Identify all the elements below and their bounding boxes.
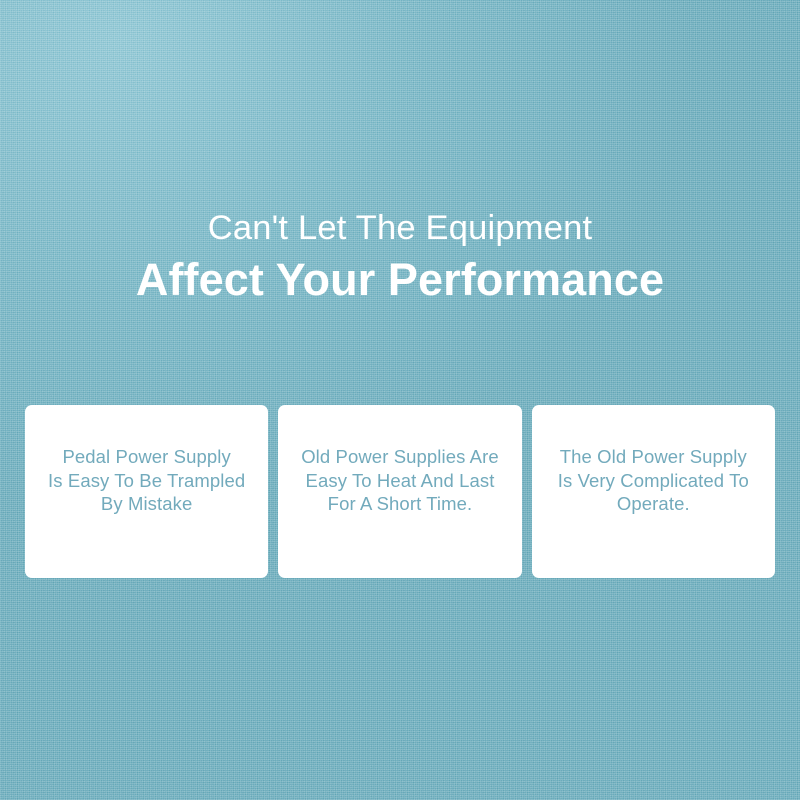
feature-cards-row: Pedal Power Supply Is Easy To Be Trample…: [25, 405, 775, 578]
headline-block: Can't Let The Equipment Affect Your Perf…: [0, 205, 800, 309]
background-grain-overlay: [0, 0, 800, 800]
feature-card-3: The Old Power Supply Is Very Complicated…: [532, 405, 775, 578]
headline-line-emphasis: Affect Your Performance: [0, 251, 800, 309]
headline-line-primary: Can't Let The Equipment: [0, 205, 800, 251]
feature-card-1-text: Pedal Power Supply Is Easy To Be Trample…: [48, 445, 245, 516]
feature-card-3-text: The Old Power Supply Is Very Complicated…: [558, 445, 749, 516]
feature-card-2-text: Old Power Supplies Are Easy To Heat And …: [301, 445, 499, 516]
feature-card-2: Old Power Supplies Are Easy To Heat And …: [278, 405, 521, 578]
promotional-banner: Can't Let The Equipment Affect Your Perf…: [0, 0, 800, 800]
feature-card-1: Pedal Power Supply Is Easy To Be Trample…: [25, 405, 268, 578]
